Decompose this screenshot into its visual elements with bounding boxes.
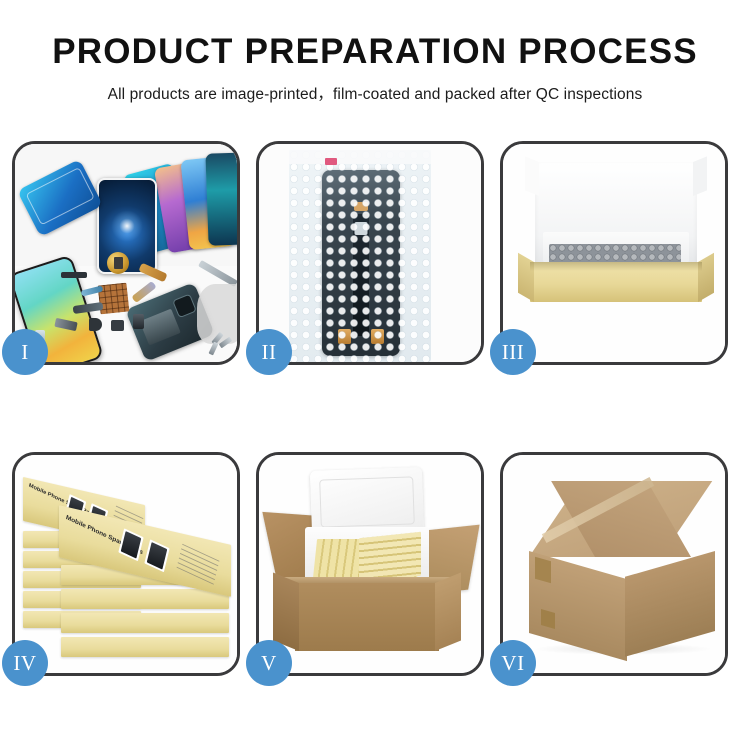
step-image-1 bbox=[15, 144, 237, 362]
step-panel-1[interactable]: I bbox=[12, 141, 240, 365]
step-badge-5: V bbox=[246, 640, 292, 686]
step-panel-2[interactable]: II bbox=[256, 141, 484, 365]
box-stack: Mobile Phone Spare Parts Mobile Phone Sp… bbox=[23, 473, 229, 663]
step-panel-6[interactable]: VI bbox=[500, 452, 728, 676]
step-image-4: Mobile Phone Spare Parts Mobile Phone Sp… bbox=[15, 455, 237, 673]
step-badge-3: III bbox=[490, 329, 536, 375]
box-spec-lines-right bbox=[177, 544, 220, 585]
step-badge-2: II bbox=[246, 329, 292, 375]
step-badge-1: I bbox=[2, 329, 48, 375]
spare-part-module bbox=[111, 320, 124, 331]
spare-part-camera bbox=[89, 318, 102, 331]
carton-seam-tab-top bbox=[535, 557, 551, 584]
packed-yellow-boxes-2 bbox=[359, 532, 421, 583]
step-panel-4[interactable]: Mobile Phone Spare Parts Mobile Phone Sp… bbox=[12, 452, 240, 676]
bubble-wrap-bag bbox=[289, 150, 431, 362]
tray-inner-shadow bbox=[530, 262, 702, 271]
step-panel-3[interactable]: III bbox=[500, 141, 728, 365]
step-image-2 bbox=[259, 144, 481, 362]
carton-body bbox=[295, 583, 439, 651]
step-panel-5[interactable]: V bbox=[256, 452, 484, 676]
stack-box-r3 bbox=[61, 613, 229, 633]
pink-qc-label bbox=[325, 158, 337, 165]
step-image-5 bbox=[259, 455, 481, 673]
process-steps-grid: I II bbox=[12, 141, 739, 676]
stack-box-r2 bbox=[61, 589, 229, 609]
stack-box-r4 bbox=[61, 637, 229, 657]
bubble-texture bbox=[289, 150, 431, 362]
spare-part-button bbox=[133, 314, 144, 329]
step-badge-4: IV bbox=[2, 640, 48, 686]
box-thumbnail-right-1 bbox=[118, 528, 143, 561]
step-image-6 bbox=[503, 455, 725, 673]
box-thumbnail-right-2 bbox=[144, 539, 169, 572]
bag-seal bbox=[289, 150, 431, 164]
header: PRODUCT PREPARATION PROCESS All products… bbox=[0, 0, 750, 104]
phone-screen-dark-teal bbox=[205, 152, 237, 245]
step-badge-6: VI bbox=[490, 640, 536, 686]
step-image-3 bbox=[503, 144, 725, 362]
speaker-component bbox=[107, 252, 129, 274]
page-subtitle: All products are image-printed，film-coat… bbox=[0, 82, 750, 104]
page-title: PRODUCT PREPARATION PROCESS bbox=[0, 34, 750, 71]
spare-part-bar bbox=[61, 272, 87, 278]
